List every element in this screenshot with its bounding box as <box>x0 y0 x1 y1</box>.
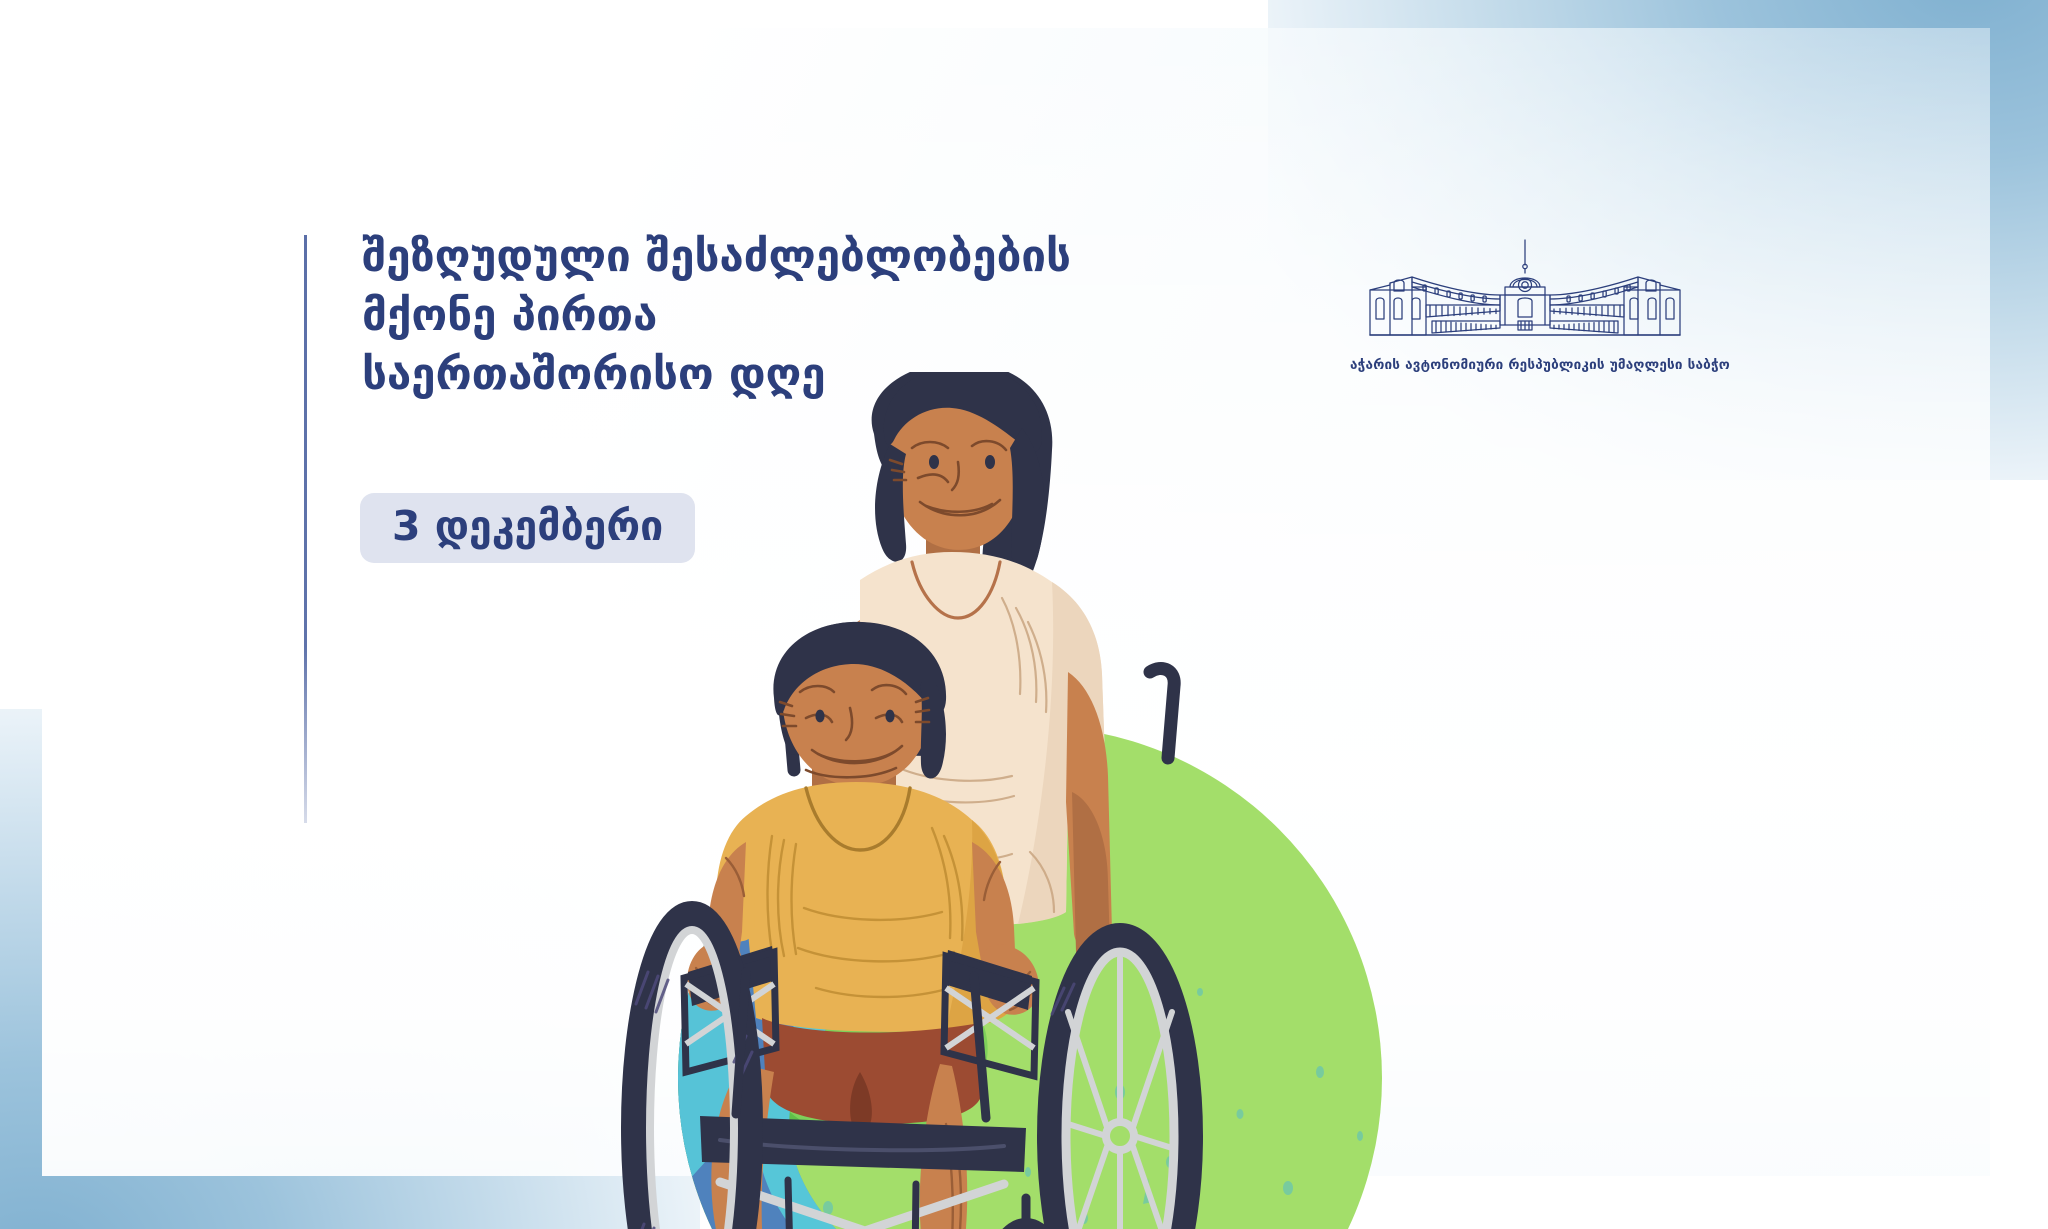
vertical-divider <box>304 235 307 823</box>
wheel-right <box>1050 936 1190 1229</box>
illustration-artwork <box>560 372 1620 1229</box>
poster-canvas: შეზღუდული შესაძლებლობების მქონე პირთა სა… <box>0 0 2048 1229</box>
illustration-wheelchair-couple-on-globe <box>560 372 1620 1229</box>
page-title-line-2: მქონე პირთა <box>362 287 1242 346</box>
page-title-line-1: შეზღუდული შესაძლებლობების <box>362 228 1242 287</box>
organization-logo-caption: აჭარის ავტონომიური რესპუბლიკის უმაღლესი … <box>1350 357 1700 373</box>
supreme-council-building-icon <box>1350 235 1700 355</box>
organization-logo: აჭარის ავტონომიური რესპუბლიკის უმაღლესი … <box>1350 235 1700 373</box>
